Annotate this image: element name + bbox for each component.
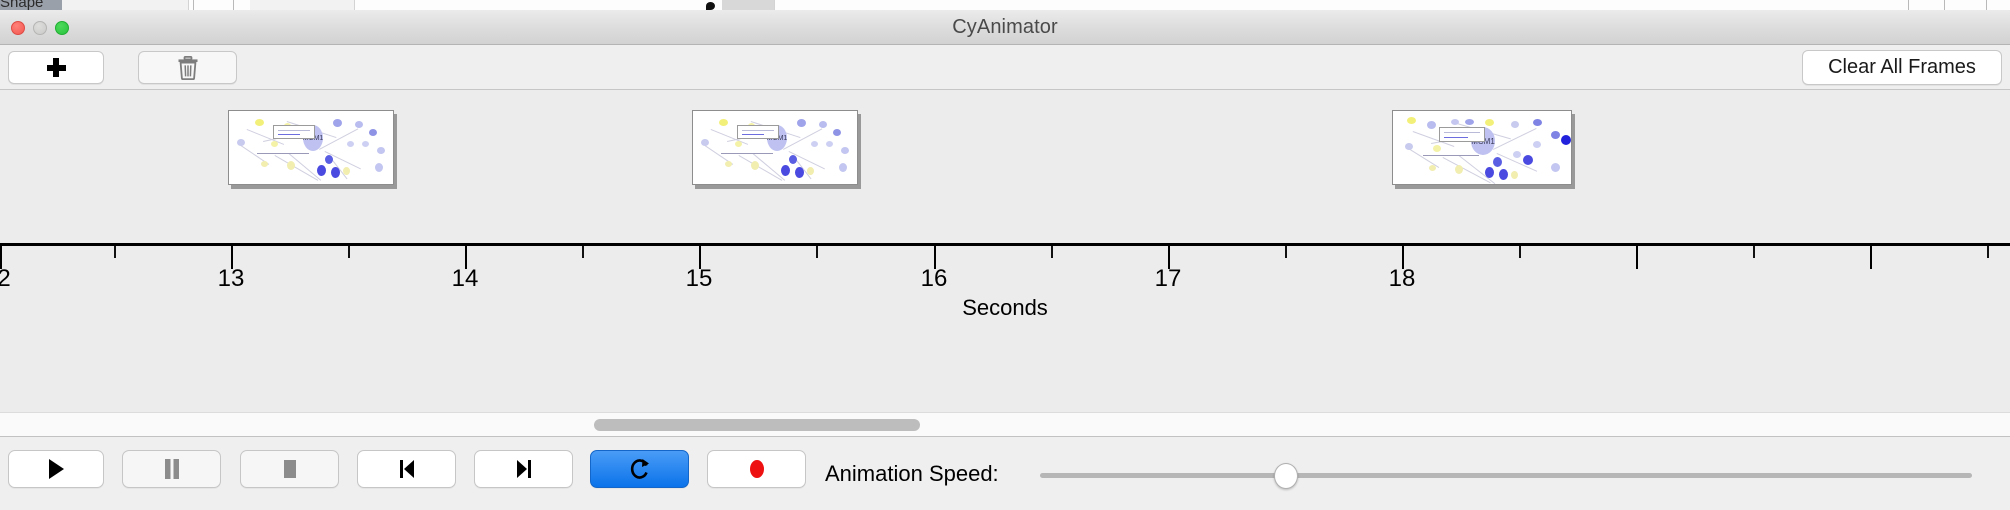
network-preview: MCM1	[693, 111, 857, 184]
animation-speed-label: Animation Speed:	[825, 437, 999, 510]
record-icon	[747, 458, 767, 480]
background-window-text: Shape	[0, 0, 43, 10]
clear-all-frames-button[interactable]: Clear All Frames	[1802, 50, 2002, 85]
play-icon	[46, 458, 66, 480]
loop-icon	[629, 457, 651, 481]
title-bar: CyAnimator	[0, 10, 2010, 45]
stop-icon	[281, 458, 299, 480]
animation-speed-slider-thumb[interactable]	[1274, 463, 1298, 489]
scrollbar-thumb[interactable]	[594, 419, 920, 431]
play-button[interactable]	[8, 450, 104, 488]
tick-label-4: 16	[921, 265, 948, 293]
timeline-panel[interactable]: MCM1	[0, 90, 2010, 412]
animation-speed-slider[interactable]	[1040, 473, 1972, 478]
record-button[interactable]	[707, 450, 806, 488]
previous-frame-button[interactable]	[357, 450, 456, 488]
loop-button[interactable]	[590, 450, 689, 488]
plus-icon	[47, 58, 66, 77]
trash-icon	[177, 56, 199, 80]
axis-title-seconds: Seconds	[0, 295, 2010, 321]
pause-icon	[163, 458, 181, 480]
network-preview: MCM1	[229, 111, 393, 184]
playback-bar: Animation Speed:	[0, 436, 2010, 510]
tick-label-5: 17	[1155, 265, 1182, 293]
next-frame-button[interactable]	[474, 450, 573, 488]
network-preview: MCM1	[1393, 111, 1571, 184]
window-title: CyAnimator	[0, 10, 2010, 45]
delete-frame-button[interactable]	[138, 51, 237, 84]
add-frame-button[interactable]	[8, 51, 104, 84]
pause-button[interactable]	[122, 450, 221, 488]
frame-thumbnail-2[interactable]: MCM1	[692, 110, 858, 185]
frame-toolbar: Clear All Frames	[0, 45, 2010, 90]
skip-forward-icon	[514, 458, 534, 480]
tick-label-6: 18	[1389, 265, 1416, 293]
frame-thumbnail-3[interactable]: MCM1	[1392, 110, 1572, 185]
timeline-scrollbar[interactable]	[0, 412, 2010, 436]
clear-all-frames-label: Clear All Frames	[1828, 56, 1976, 79]
tick-label-0: 2	[0, 265, 11, 293]
tick-label-2: 14	[452, 265, 479, 293]
background-window-strip: Shape	[0, 0, 2010, 10]
frame-thumbnail-1[interactable]: MCM1	[228, 110, 394, 185]
skip-back-icon	[397, 458, 417, 480]
tick-label-1: 13	[218, 265, 245, 293]
cyanimator-window: Shape CyAnimator	[0, 0, 2010, 510]
tick-label-3: 15	[686, 265, 713, 293]
timeline-axis	[0, 243, 2010, 246]
stop-button[interactable]	[240, 450, 339, 488]
